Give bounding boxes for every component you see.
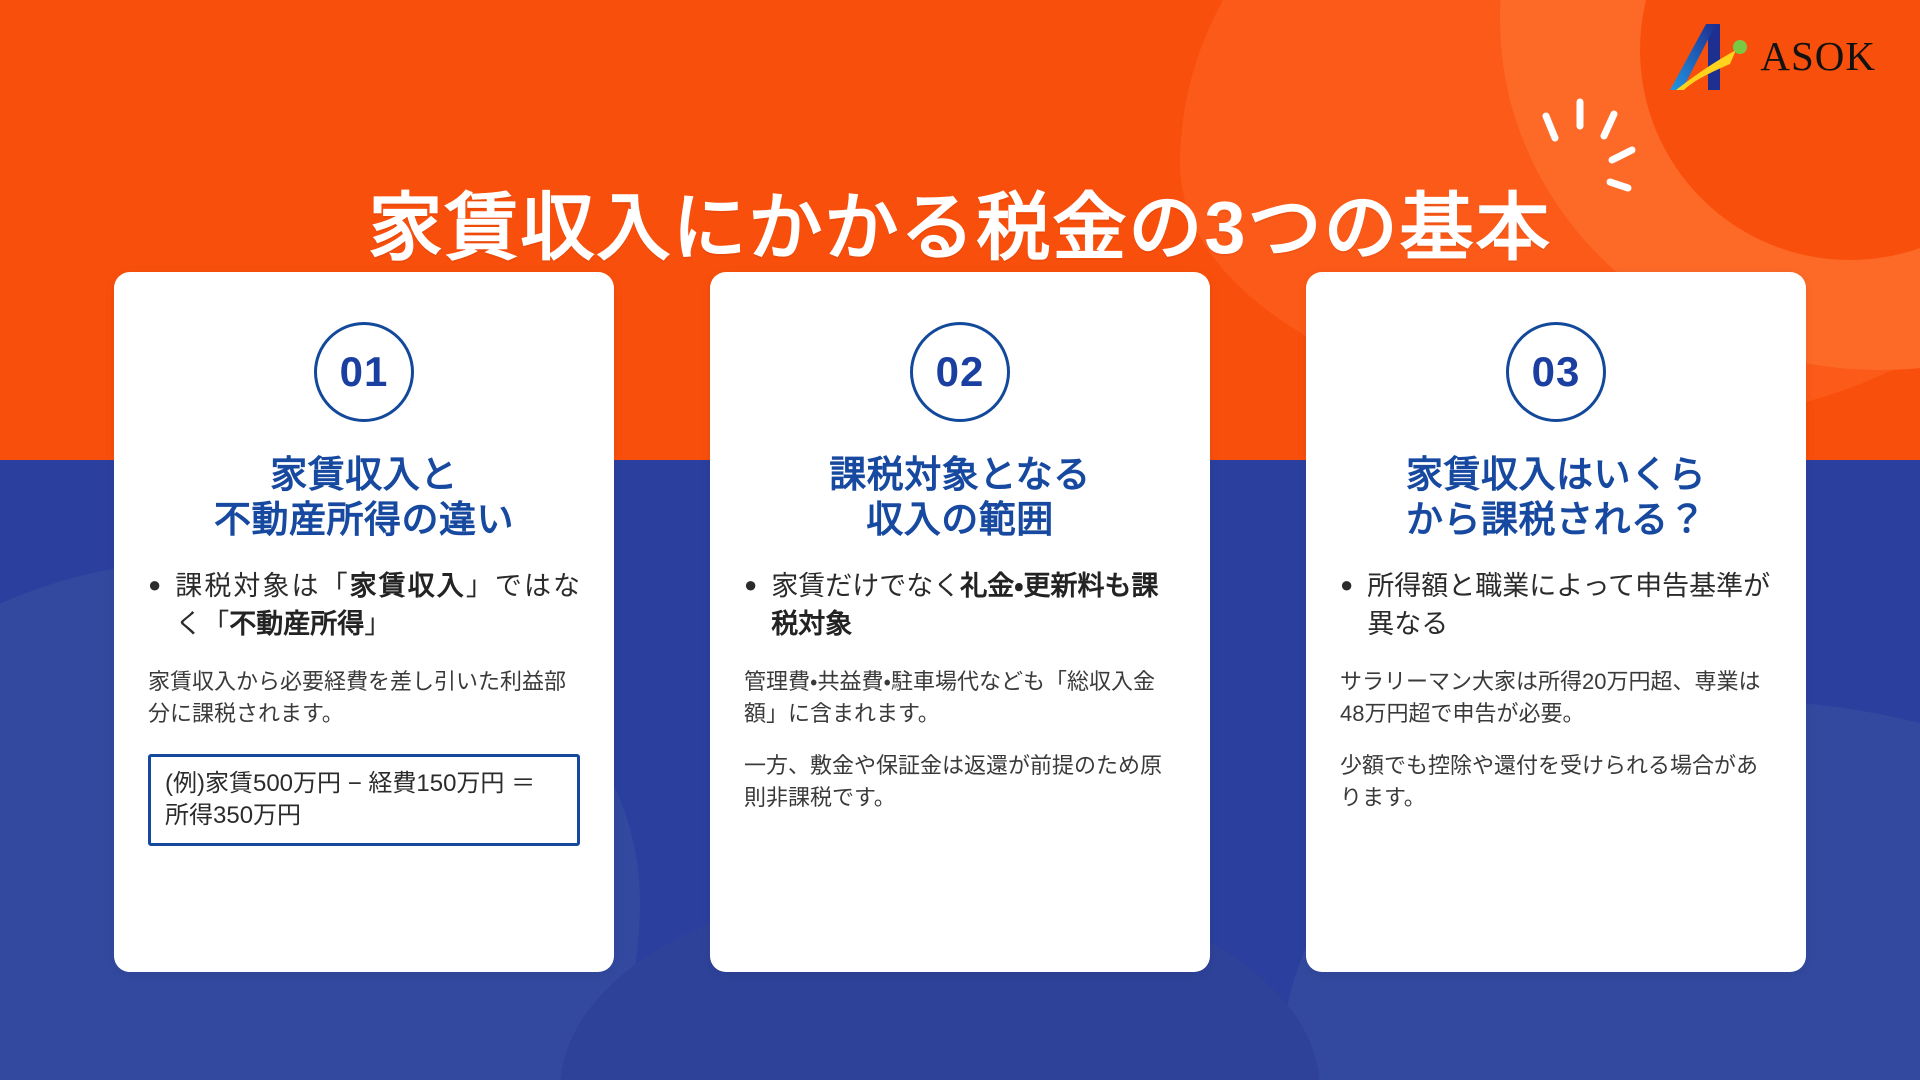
card-title-line2: 不動産所得の違い xyxy=(148,497,580,542)
card-title-line1: 家賃収入と xyxy=(148,452,580,497)
infographic-slide: ASOK 家賃収入にかかる税金の3つの基本 01 家賃収入と 不動産所得の違い … xyxy=(0,0,1920,1080)
brand-logo: ASOK xyxy=(1668,20,1876,92)
card-number-badge: 01 xyxy=(314,322,414,422)
card-title: 家賃収入はいくら から課税される？ xyxy=(1340,452,1772,542)
logo-wordmark: ASOK xyxy=(1760,36,1876,77)
card-description-1: 管理費・共益費・駐車場代なども「総収入金額」に含まれます。 xyxy=(744,666,1176,730)
card-description-2: 少額でも控除や還付を受けられる場合があります。 xyxy=(1340,750,1772,814)
card-example-box: (例)家賃500万円 − 経費150万円 ＝ 所得350万円 xyxy=(148,754,580,847)
card-title: 課税対象となる 収入の範囲 xyxy=(744,452,1176,542)
card-list: 01 家賃収入と 不動産所得の違い ● 課税対象は「家賃収入」ではなく「不動産所… xyxy=(0,272,1920,972)
card-description-2: 一方、敷金や保証金は返還が前提のため原則非課税です。 xyxy=(744,750,1176,814)
card-description-1: 家賃収入から必要経費を差し引いた利益部分に課税されます。 xyxy=(148,666,580,730)
card-title-line1: 家賃収入はいくら xyxy=(1340,452,1772,497)
card-title-line2: から課税される？ xyxy=(1340,497,1772,542)
bullet-dot-icon: ● xyxy=(744,568,757,644)
bullet-dot-icon: ● xyxy=(1340,568,1353,644)
bullet-strong-1: 家賃収入 xyxy=(350,571,466,601)
bullet-text: 課税対象は「家賃収入」ではなく「不動産所得」 xyxy=(175,568,580,644)
sparkle-decoration xyxy=(1528,88,1648,218)
card-number-badge: 02 xyxy=(910,322,1010,422)
card-bullet: ● 課税対象は「家賃収入」ではなく「不動産所得」 xyxy=(148,568,580,644)
bullet-part-before: 家賃だけでなく xyxy=(771,571,960,601)
bullet-text: 家賃だけでなく礼金・更新料も課税対象 xyxy=(771,568,1176,644)
card-description-1: サラリーマン大家は所得20万円超、専業は48万円超で申告が必要。 xyxy=(1340,666,1772,730)
card-01[interactable]: 01 家賃収入と 不動産所得の違い ● 課税対象は「家賃収入」ではなく「不動産所… xyxy=(114,272,614,972)
card-title: 家賃収入と 不動産所得の違い xyxy=(148,452,580,542)
bullet-part-before: 課税対象は「 xyxy=(175,571,349,601)
card-bullet: ● 家賃だけでなく礼金・更新料も課税対象 xyxy=(744,568,1176,644)
card-03[interactable]: 03 家賃収入はいくら から課税される？ ● 所得額と職業によって申告基準が異な… xyxy=(1306,272,1806,972)
bullet-part-before: 所得額と職業によって申告基準が異なる xyxy=(1367,571,1770,639)
bullet-dot-icon: ● xyxy=(148,568,161,644)
card-title-line2: 収入の範囲 xyxy=(744,497,1176,542)
bullet-text: 所得額と職業によって申告基準が異なる xyxy=(1367,568,1772,644)
bullet-strong-2: 不動産所得 xyxy=(229,609,364,639)
bullet-part-after: 」 xyxy=(364,609,391,639)
card-title-line1: 課税対象となる xyxy=(744,452,1176,497)
card-number-badge: 03 xyxy=(1506,322,1606,422)
asok-logo-mark xyxy=(1668,20,1752,92)
card-02[interactable]: 02 課税対象となる 収入の範囲 ● 家賃だけでなく礼金・更新料も課税対象 管理… xyxy=(710,272,1210,972)
card-bullet: ● 所得額と職業によって申告基準が異なる xyxy=(1340,568,1772,644)
